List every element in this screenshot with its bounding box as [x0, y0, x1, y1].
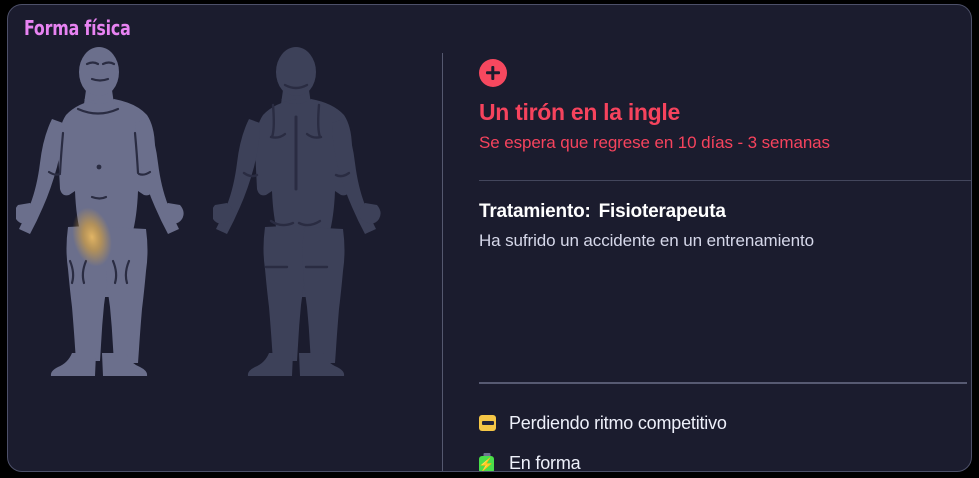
front-body-svg: [16, 45, 216, 380]
panel-divider: [442, 53, 443, 472]
treatment-note: Ha sufrido un accidente en un entrenamie…: [479, 231, 814, 251]
page-title: Forma física: [24, 16, 131, 40]
injury-status-icon-row: [479, 59, 507, 87]
legend-item-losing-match-sharpness: Perdiendo ritmo competitivo: [479, 403, 969, 443]
fitness-card: Forma física: [7, 4, 972, 472]
front-body-figure[interactable]: [16, 45, 216, 380]
back-body-figure[interactable]: [213, 45, 413, 380]
treatment-label: Tratamiento:: [479, 201, 591, 222]
injury-return-estimate: Se espera que regrese en 10 días - 3 sem…: [479, 133, 830, 153]
legend-item-match-fit: ⚡ En forma: [479, 443, 969, 472]
battery-bolt-icon: ⚡: [479, 453, 509, 472]
legend-label: Perdiendo ritmo competitivo: [509, 413, 727, 434]
info-divider-bottom: [479, 382, 967, 384]
treatment-line: Tratamiento:Fisioterapeuta: [479, 201, 726, 223]
minus-chip-icon: [479, 415, 509, 431]
treatment-value: Fisioterapeuta: [599, 201, 726, 222]
injury-name: Un tirón en la ingle: [479, 99, 680, 126]
body-map-panel: [8, 45, 435, 472]
injury-info-panel: Un tirón en la ingle Se espera que regre…: [471, 49, 972, 472]
back-body-svg: [213, 45, 413, 380]
medical-cross-icon: [479, 59, 507, 87]
legend-label: En forma: [509, 453, 580, 473]
fitness-legend: Perdiendo ritmo competitivo ⚡ En forma: [479, 403, 969, 472]
info-divider-top: [479, 180, 972, 181]
